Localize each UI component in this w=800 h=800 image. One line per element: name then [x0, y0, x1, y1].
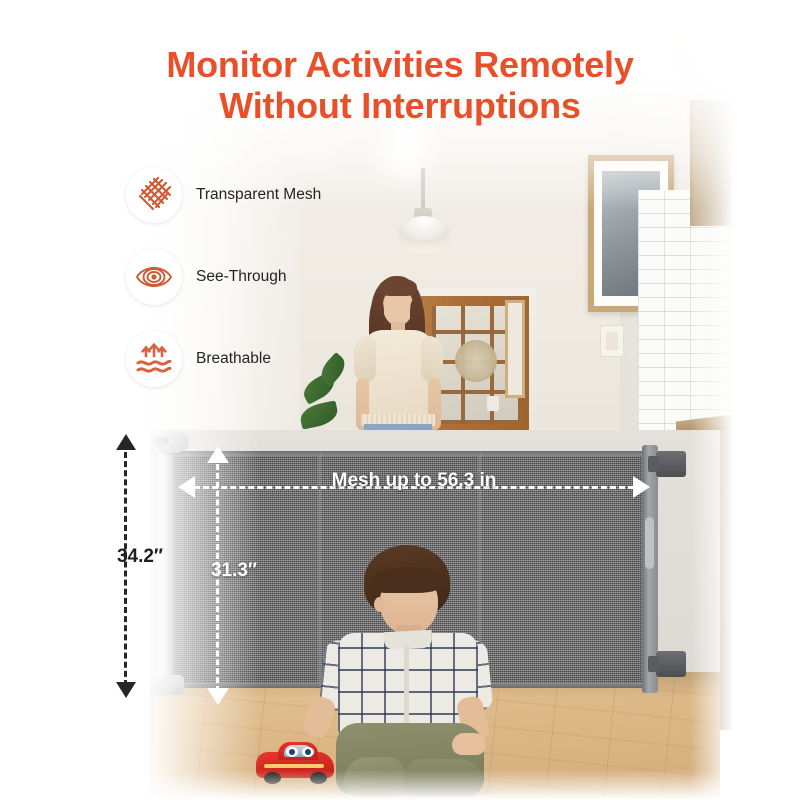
gate-latch-slot	[645, 517, 654, 569]
light-switch-plate	[600, 325, 624, 357]
bottom-fade-overlay	[0, 770, 800, 800]
wall-mount-bracket-bottom	[656, 651, 686, 677]
arrow-down-icon	[207, 688, 229, 705]
headline-line-2: Without Interruptions	[0, 85, 800, 126]
arrow-up-icon	[207, 446, 229, 463]
feature-item-see-through: See-Through	[126, 248, 366, 306]
dimension-mesh-height-label: 31.3″	[190, 560, 278, 582]
feature-label: Transparent Mesh	[196, 185, 321, 204]
feature-item-transparent-mesh: Transparent Mesh	[126, 166, 366, 224]
wall-outlet	[487, 396, 499, 411]
headline: Monitor Activities Remotely Without Inte…	[0, 44, 800, 126]
feature-label: Breathable	[196, 349, 271, 368]
feature-item-breathable: Breathable	[126, 330, 366, 388]
breathable-airflow-icon	[126, 331, 182, 387]
child-figure	[300, 545, 550, 800]
dimension-total-height-line	[124, 452, 127, 686]
dimension-total-height: 34.2″	[112, 438, 202, 700]
headline-line-1: Monitor Activities Remotely	[0, 44, 800, 85]
feature-list: Transparent Mesh See-Through	[126, 166, 366, 412]
product-marketing-image: Monitor Activities Remotely Without Inte…	[0, 0, 800, 800]
wall-art-small	[505, 300, 525, 398]
eye-icon	[126, 249, 182, 305]
feature-label: See-Through	[196, 267, 286, 286]
arrow-up-icon	[116, 434, 136, 450]
mesh-grid-icon	[126, 167, 182, 223]
door-medallion	[455, 340, 497, 382]
dimension-total-height-label: 34.2″	[98, 546, 182, 568]
dimension-mesh-height: 31.3″	[204, 452, 294, 702]
arrow-down-icon	[116, 682, 136, 698]
wall-mount-bracket-top	[656, 451, 686, 477]
